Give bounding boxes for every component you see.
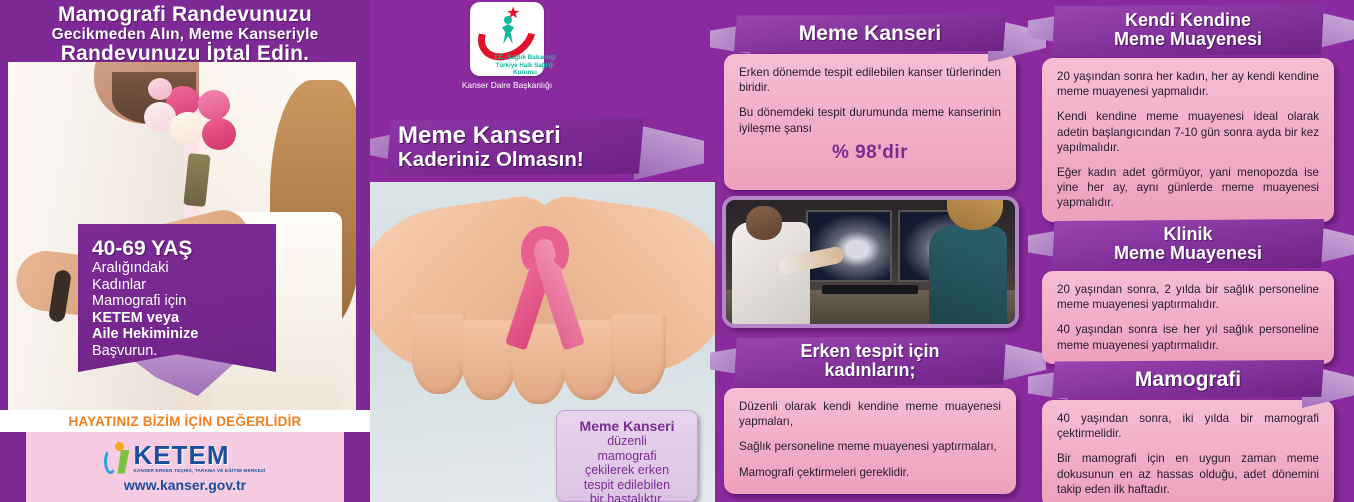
info-box-line-1: düzenli [567, 434, 687, 449]
card-meme-kanseri: Meme Kanseri Erken dönemde tespit edileb… [724, 14, 1016, 190]
card-paragraph: Bir mamografi için en uygun zaman meme d… [1057, 451, 1319, 497]
card-title-line-2: kadınların; [824, 361, 915, 380]
ketem-body [117, 450, 129, 474]
card-paragraph: Eğer kadın adet görmüyor, yani menopozda… [1057, 165, 1319, 211]
ketem-logo-area: KETEM KANSER ERKEN TEŞHİS, TARAMA VE EĞİ… [26, 432, 344, 502]
info-box-line-3: çekilerek erken [567, 463, 687, 478]
card-paragraph: Mamografi çektirmeleri gereklidir. [739, 465, 1001, 480]
tagline-bar: HAYATINIZ BİZİM İÇİN DEĞERLİDİR [0, 410, 370, 432]
header-body: Kendi Kendine Meme Muayenesi [1052, 4, 1324, 56]
card-title: Meme Kanseri [799, 24, 941, 43]
xray-image [808, 212, 890, 280]
ministry-line-2: Türkiye Halk Sağlığı [470, 62, 580, 69]
center-banner: Meme Kanseri Kaderiniz Olmasın! [382, 118, 660, 180]
ketem-logo: KETEM KANSER ERKEN TEŞHİS, TARAMA VE EĞİ… [104, 442, 265, 474]
left-headline-block: Mamografi Randevunuzu Gecikmeden Alın, M… [0, 0, 370, 62]
card-title-line-1: Kendi Kendine [1125, 11, 1251, 30]
card-paragraph: 40 yaşından sonra, iki yılda bir mamogra… [1057, 411, 1319, 441]
ketem-subtitle: KANSER ERKEN TEŞHİS, TARAMA VE EĞİTİM ME… [133, 468, 265, 473]
callout-line-3: Mamografi için [92, 293, 268, 310]
flower-petal [202, 118, 236, 150]
center-info-box: Meme Kanseri düzenli mamografi çekilerek… [556, 410, 698, 502]
card-title: Mamografi [1135, 370, 1241, 389]
info-box-line-4: tespit edilebilen [567, 478, 687, 493]
card-body: 40 yaşından sonra, iki yılda bir mamogra… [1042, 400, 1334, 502]
ketem-arc [104, 449, 117, 474]
finger [612, 314, 666, 394]
card-paragraph: Düzenli olarak kendi kendine meme muayen… [739, 399, 1001, 429]
callout-age-range: 40-69 YAŞ [92, 238, 268, 260]
flower-petal [198, 90, 230, 120]
ministry-line-3: Kurumu [470, 69, 580, 76]
patient-figure [929, 226, 1007, 328]
card-title-line-2: Meme Muayenesi [1114, 244, 1262, 263]
card-header: Meme Kanseri [724, 14, 1016, 54]
card-header: Kendi Kendine Meme Muayenesi [1042, 4, 1334, 58]
banner-wing-right [634, 124, 704, 180]
pink-ribbon-icon [499, 230, 591, 370]
card-kendi-kendine: Kendi Kendine Meme Muayenesi 20 yaşından… [1042, 4, 1334, 222]
callout-line-4: KETEM veya [92, 310, 268, 327]
card-erken-tespit: Erken tespit için kadınların; Düzenli ol… [724, 336, 1016, 494]
poster-canvas: Mamografi Randevunuzu Gecikmeden Alın, M… [0, 0, 1354, 502]
headline-line-1: Mamografi Randevunuzu [0, 4, 370, 26]
card-body: Erken dönemde tespit edilebilen kanser t… [724, 54, 1016, 190]
info-box-line-2: mamografi [567, 449, 687, 464]
doctor-head [746, 206, 782, 240]
card-paragraph: Bu dönemdeki tespit durumunda meme kanse… [739, 105, 1001, 135]
card-title-line-1: Erken tespit için [800, 342, 939, 361]
card-klinik: Klinik Meme Muayenesi 20 yaşından sonra,… [1042, 219, 1334, 364]
card-title-line-1: Klinik [1163, 225, 1212, 244]
callout-box: 40-69 YAŞ Aralığındaki Kadınlar Mamograf… [78, 224, 276, 372]
ribbon-loop [521, 226, 569, 276]
header-body: Klinik Meme Muayenesi [1052, 219, 1324, 269]
card-paragraph: Kendi kendine meme muayenesi ideal olara… [1057, 109, 1319, 155]
card-body: 20 yaşından sonra her kadın, her ay kend… [1042, 58, 1334, 222]
info-box-title: Meme Kanseri [567, 418, 687, 434]
flower-bouquet [136, 76, 256, 186]
person-body [502, 24, 514, 44]
ministry-line-1: T.C. Sağlık Bakanlığı [470, 54, 580, 61]
card-header: Klinik Meme Muayenesi [1042, 219, 1334, 271]
banner-body: Meme Kanseri Kaderiniz Olmasın! [386, 118, 644, 176]
ketem-figure-icon [104, 442, 130, 474]
ketem-head-dot [115, 442, 124, 451]
card-paragraph: 20 yaşından sonra, 2 yılda bir sağlık pe… [1057, 282, 1319, 312]
info-box-line-5: bir hastalıktır. [567, 492, 687, 502]
card-paragraph: Erken dönemde tespit edilebilen kanser t… [739, 65, 1001, 95]
flower-petal [148, 78, 172, 100]
keyboard [822, 285, 918, 294]
callout-line-1: Aralığındaki [92, 260, 268, 277]
card-body: Düzenli olarak kendi kendine meme muayen… [724, 388, 1016, 494]
header-body: Erken tespit için kadınların; [734, 336, 1006, 386]
card-mamografi: Mamografi 40 yaşından sonra, iki yılda b… [1042, 360, 1334, 502]
center-panel: ★ T.C. Sağlık Bakanlığı Türkiye Halk Sağ… [370, 0, 715, 502]
ministry-logo: ★ T.C. Sağlık Bakanlığı Türkiye Halk Sağ… [452, 2, 562, 90]
card-header: Mamografi [1042, 360, 1334, 400]
flower-petal [170, 112, 206, 144]
ketem-website-url[interactable]: www.kanser.gov.tr [124, 477, 246, 493]
callout-line-2: Kadınlar [92, 277, 268, 294]
card-paragraph: Sağlık personeline meme muayenesi yaptır… [739, 439, 1001, 454]
finger [412, 314, 466, 394]
header-body: Mamografi [1052, 360, 1324, 398]
headline-line-2: Gecikmeden Alın, Meme Kanseriyle [0, 26, 370, 43]
tagline-text: HAYATINIZ BİZİM İÇİN DEĞERLİDİR [69, 414, 302, 429]
header-body: Meme Kanseri [734, 14, 1006, 52]
banner-line-2: Kaderiniz Olmasın! [398, 149, 644, 171]
card-title-line-2: Meme Muayenesi [1114, 30, 1262, 49]
banner-line-1: Meme Kanseri [398, 123, 644, 149]
star-icon: ★ [506, 6, 520, 22]
left-panel: Mamografi Randevunuzu Gecikmeden Alın, M… [0, 0, 370, 502]
callout-line-5: Aile Hekiminize [92, 326, 268, 343]
card-header: Erken tespit için kadınların; [724, 336, 1016, 388]
card-paragraph: 20 yaşından sonra her kadın, her ay kend… [1057, 69, 1319, 99]
ministry-caption: Kanser Daire Başkanlığı [446, 80, 568, 90]
card-paragraph: 40 yaşından sonra ise her yıl sağlık per… [1057, 322, 1319, 352]
card-body: 20 yaşından sonra, 2 yılda bir sağlık pe… [1042, 271, 1334, 364]
age-callout: 40-69 YAŞ Aralığındaki Kadınlar Mamograf… [78, 224, 276, 394]
ketem-wordmark: KETEM [133, 442, 265, 468]
monitor-left [806, 210, 892, 282]
ministry-logo-card: ★ T.C. Sağlık Bakanlığı Türkiye Halk Sağ… [470, 2, 544, 76]
mammogram-photo [722, 196, 1019, 328]
highlight-percentage: % 98'dir [739, 142, 1001, 164]
